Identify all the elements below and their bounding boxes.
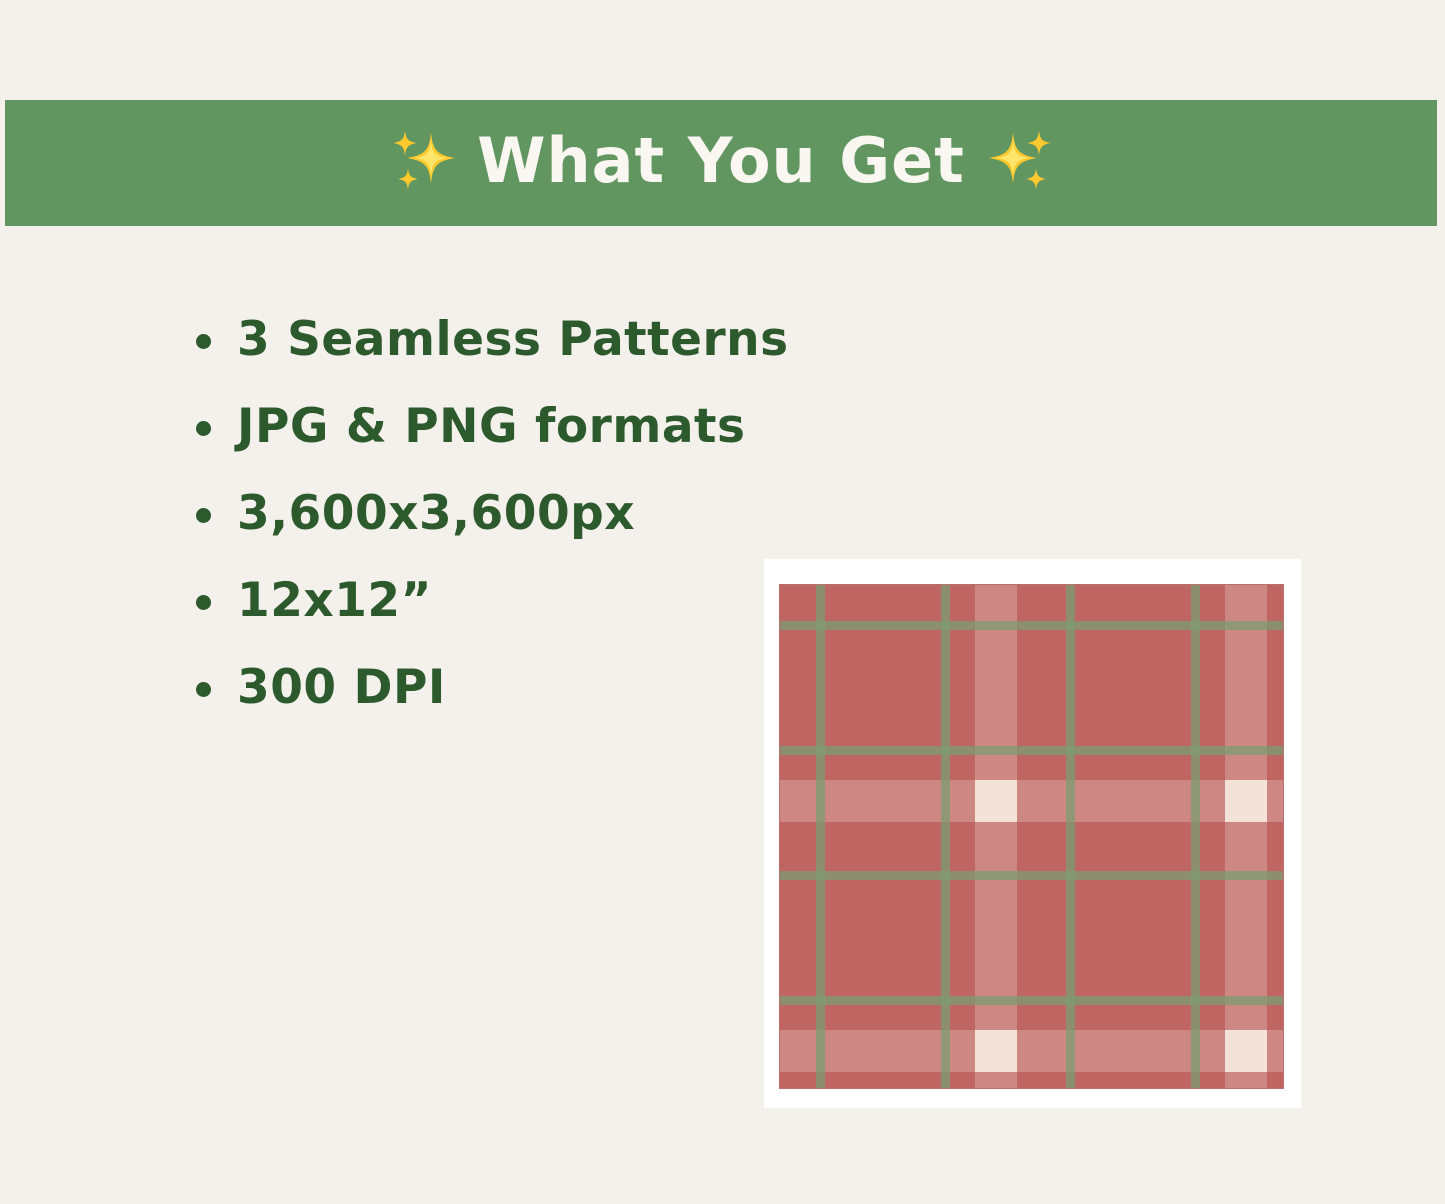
sparkles-icon (983, 124, 1055, 198)
plaid-horizontal-green-stripes (780, 585, 1283, 1088)
list-item-label: 12x12” (237, 573, 432, 628)
bullet-dot-icon (196, 508, 211, 523)
list-item: 3,600x3,600px (196, 470, 896, 557)
pattern-preview-frame (764, 559, 1301, 1108)
list-item: 3 Seamless Patterns (196, 296, 896, 383)
bullet-dot-icon (196, 595, 211, 610)
list-item: JPG & PNG formats (196, 383, 896, 470)
bullet-dot-icon (196, 334, 211, 349)
plaid-pattern-preview (780, 585, 1283, 1088)
header-title-group: What You Get (387, 124, 1055, 198)
sparkles-icon (387, 124, 459, 198)
bullet-dot-icon (196, 682, 211, 697)
bullet-dot-icon (196, 421, 211, 436)
page-title: What You Get (477, 130, 965, 192)
header-banner: What You Get (5, 100, 1437, 226)
list-item-label: 3,600x3,600px (237, 486, 635, 541)
list-item-label: JPG & PNG formats (237, 399, 746, 454)
list-item-label: 300 DPI (237, 660, 446, 715)
list-item-label: 3 Seamless Patterns (237, 312, 789, 367)
